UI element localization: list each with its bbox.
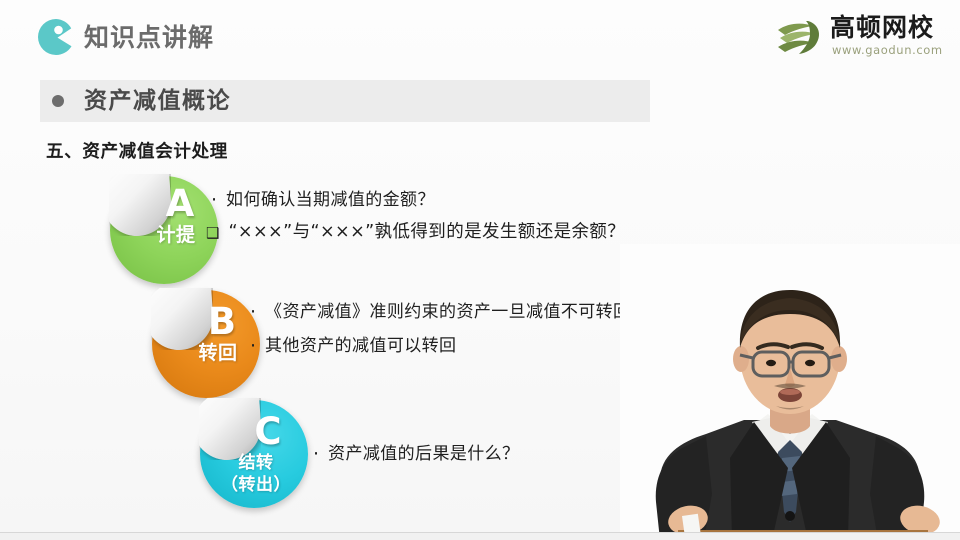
bullet-text: 如何确认当期减值的金额？: [226, 186, 435, 214]
instructor-figure: [620, 244, 960, 540]
dot-bullet-icon: ·: [250, 332, 256, 360]
bullet-text: “×××”与“×××”孰低得到的是发生额还是余额？: [228, 218, 625, 246]
bullet-item: · 如何确认当期减值的金额？: [211, 186, 435, 214]
bullet-item: ❑ “×××”与“×××”孰低得到的是发生额还是余额？: [206, 218, 625, 246]
site-logo-name: 高顿网校: [830, 13, 934, 43]
bottom-strip: [0, 533, 960, 540]
subtitle-text: 资产减值概论: [84, 85, 231, 117]
dot-bullet-icon: ·: [313, 440, 319, 468]
badge-letter: C: [214, 412, 322, 452]
page-title: 知识点讲解: [84, 21, 214, 55]
dot-bullet-icon: ·: [250, 298, 256, 326]
site-logo: 高顿网校 www.gaodun.com: [766, 12, 942, 62]
badge-c-jiezhuan: C 结转 （转出）: [200, 400, 308, 508]
badge-label: 结转 （转出）: [202, 452, 310, 496]
bullet-text: 资产减值的后果是什么？: [328, 440, 519, 468]
square-bullet-icon: ❑: [206, 219, 219, 247]
badge-b-zhuanhui: B 转回: [152, 290, 260, 398]
bullet-item: · 资产减值的后果是什么？: [313, 440, 519, 468]
filled-circle-bullet-icon: [52, 95, 64, 107]
bullet-text: 《资产减值》准则约束的资产一旦减值不可转回: [265, 298, 630, 326]
section-heading: 五、资产减值会计处理: [46, 140, 228, 164]
dot-bullet-icon: ·: [211, 186, 217, 214]
lecture-slide: 知识点讲解 高顿网校 www.gaodun.com 资产减值概论 五、资产减值会…: [0, 0, 960, 540]
bullet-text: 其他资产的减值可以转回: [265, 332, 456, 360]
site-logo-url: www.gaodun.com: [832, 43, 943, 57]
instructor-video-overlay: [620, 244, 960, 540]
badge-a-jiti: A 计提: [110, 176, 218, 284]
slide-header: 知识点讲解 高顿网校 www.gaodun.com: [0, 0, 960, 72]
leaf-swoosh-icon: [772, 14, 824, 60]
bullet-item: · 《资产减值》准则约束的资产一旦减值不可转回: [250, 298, 630, 326]
pacman-circle-icon: [38, 19, 74, 55]
bullet-item: · 其他资产的减值可以转回: [250, 332, 456, 360]
